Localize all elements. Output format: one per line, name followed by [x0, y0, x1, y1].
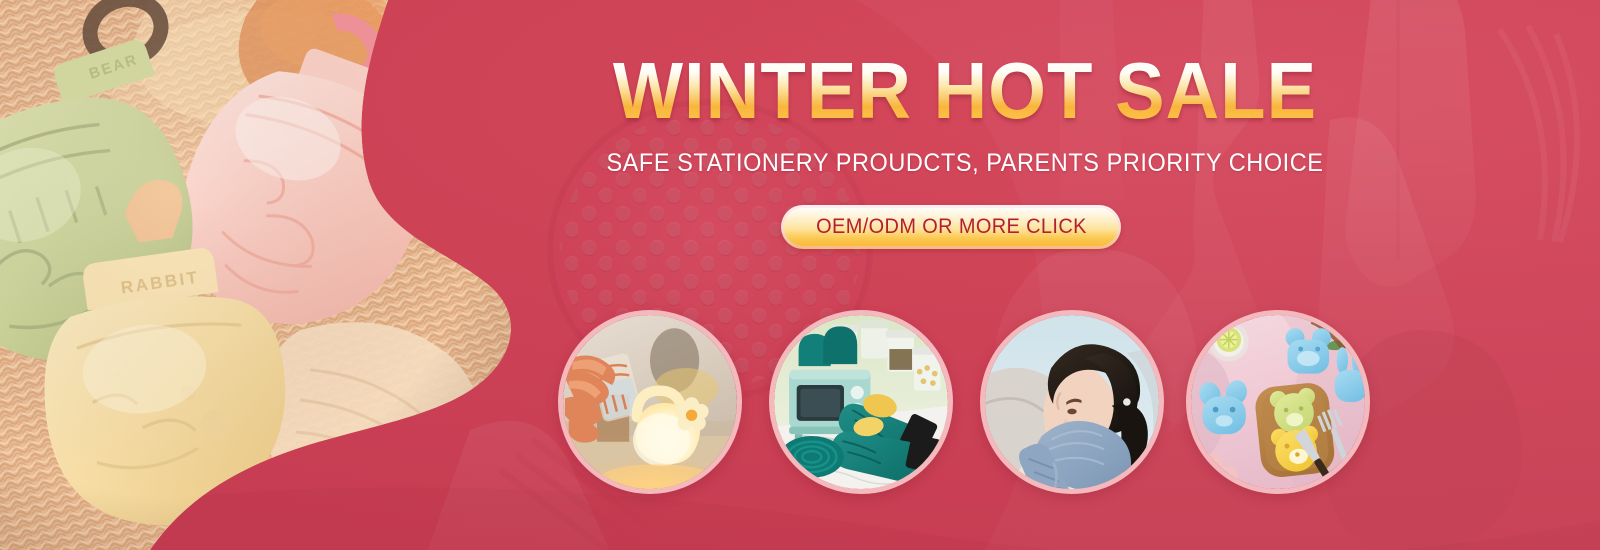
flower-night-lamp-image — [563, 315, 737, 489]
product-circle-neck-pillow[interactable] — [980, 310, 1164, 494]
cta-inner-surface: OEM/ODM OR MORE CLICK — [784, 208, 1118, 246]
product-circle-flower-night-lamp[interactable] — [558, 310, 742, 494]
silicone-hot-water-bottles-photo: BEAR RABBIT — [0, 0, 560, 550]
bear-silicone-tableware-image — [1191, 315, 1365, 489]
oem-odm-cta-button[interactable]: OEM/ODM OR MORE CLICK — [781, 205, 1121, 249]
promo-banner: BEAR RABBIT — [0, 0, 1600, 550]
product-circle-oven-mitts[interactable] — [769, 310, 953, 494]
product-circle-bear-tableware[interactable] — [1186, 310, 1370, 494]
neck-heating-pillow-image — [985, 315, 1159, 489]
oven-mitts-toaster-image — [774, 315, 948, 489]
page-title: WINTER HOT SALE — [593, 52, 1337, 130]
banner-subtitle: SAFE STATIONERY PROUDCTS, PARENTS PRIORI… — [589, 148, 1341, 178]
cta-label: OEM/ODM OR MORE CLICK — [816, 215, 1087, 239]
